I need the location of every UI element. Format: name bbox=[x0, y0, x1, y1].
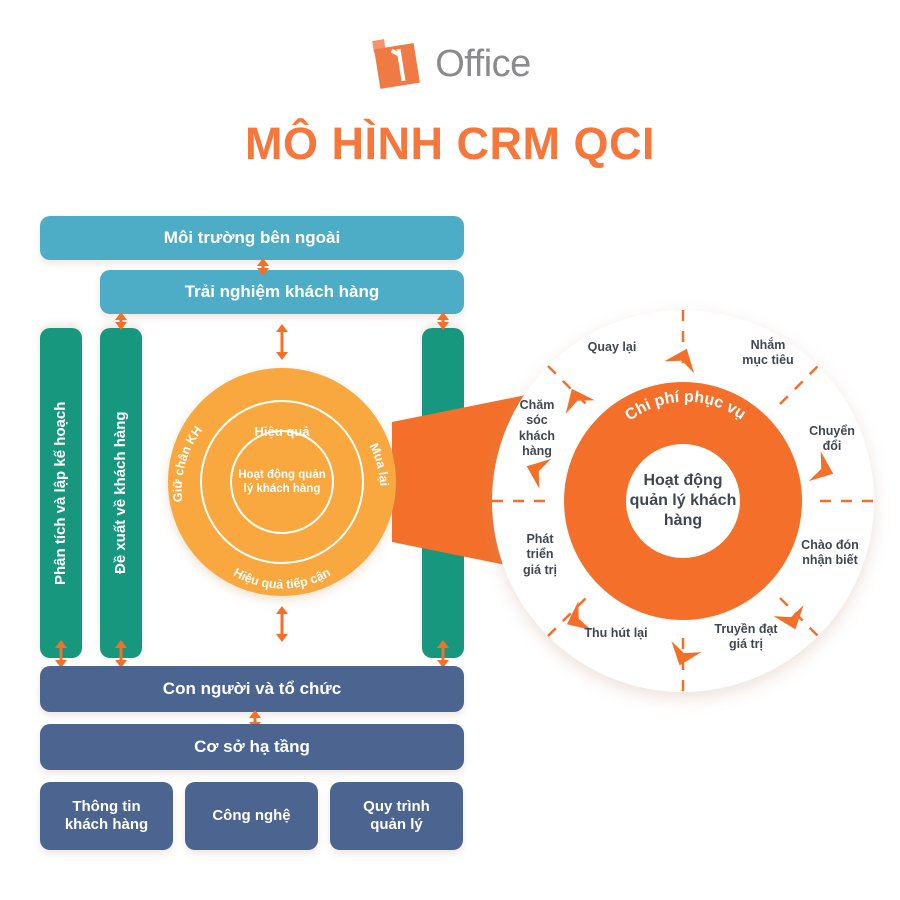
left-circle-ring-3: Hoạt động quản lý khách hàng bbox=[230, 430, 334, 534]
segment-label-welcome: Chào đón nhận biết bbox=[782, 538, 878, 569]
segment-label-value-growth: Phát triển giá trị bbox=[502, 532, 578, 578]
bar-infrastructure: Cơ sở hạ tầng bbox=[40, 724, 464, 770]
left-concentric-circle: Giữ chân KH Mua lại Hiệu quả tiếp cận Hi… bbox=[168, 368, 396, 596]
segment-label-win-back: Thu hút lại bbox=[568, 626, 664, 641]
segment-label-value-delivery: Truyền đạt giá trị bbox=[698, 622, 794, 653]
infographic-canvas: Office MÔ HÌNH CRM QCI Môi trường bên ng… bbox=[0, 0, 900, 900]
arrow-experience-to-proposition bbox=[114, 312, 128, 330]
left-outer-label-reach: Hiệu quả tiếp cận bbox=[231, 565, 333, 591]
segment-label-targeting: Nhắm mục tiêu bbox=[720, 338, 816, 369]
bar-customer-proposition-label: Đề xuất về khách hàng bbox=[112, 412, 130, 575]
box-customer-information-label: Thông tin khách hàng bbox=[65, 798, 148, 834]
right-circle-core-label: Hoạt động quản lý khách hàng bbox=[626, 471, 740, 531]
bar-external-environment-label: Môi trường bên ngoài bbox=[164, 228, 340, 248]
box-technology-label: Công nghệ bbox=[212, 807, 290, 825]
segment-label-return: Quay lại bbox=[564, 340, 660, 355]
bar-infrastructure-label: Cơ sở hạ tầng bbox=[194, 737, 310, 757]
arrow-measurement-to-people bbox=[436, 640, 450, 668]
bar-analysis-planning: Phân tích và lập kế hoạch bbox=[40, 328, 82, 658]
box-technology: Công nghệ bbox=[185, 782, 318, 850]
bar-customer-proposition: Đề xuất về khách hàng bbox=[100, 328, 142, 658]
box-management-process: Quy trình quản lý bbox=[330, 782, 463, 850]
arrow-proposition-to-people bbox=[114, 640, 128, 668]
right-detail-circle: Chi phí phục vụ Hoạt động quản lý khách … bbox=[492, 310, 874, 692]
arrow-experience-to-measurement bbox=[436, 312, 450, 330]
page-title: MÔ HÌNH CRM QCI bbox=[0, 118, 900, 170]
brand-logo: Office bbox=[0, 36, 900, 92]
1office-logo-icon bbox=[369, 36, 425, 92]
bar-people-organisation-label: Con người và tổ chức bbox=[163, 679, 341, 699]
arrow-experience-to-core bbox=[275, 324, 289, 360]
bar-customer-experience: Trải nghiệm khách hàng bbox=[100, 270, 464, 314]
arrow-external-to-experience bbox=[256, 258, 270, 276]
left-outer-label-repurchase: Mua lại bbox=[367, 441, 391, 487]
segment-label-conversion: Chuyển đổi bbox=[792, 424, 872, 455]
bar-people-organisation: Con người và tổ chức bbox=[40, 666, 464, 712]
arrow-core-to-people bbox=[275, 606, 289, 642]
box-customer-information: Thông tin khách hàng bbox=[40, 782, 173, 850]
left-circle-core-label: Hoạt động quản lý khách hàng bbox=[232, 468, 332, 497]
box-management-process-label: Quy trình quản lý bbox=[363, 798, 430, 834]
arrow-analysis-to-people bbox=[54, 640, 68, 668]
bar-customer-experience-label: Trải nghiệm khách hàng bbox=[185, 282, 380, 302]
right-circle-hole: Hoạt động quản lý khách hàng bbox=[626, 444, 740, 558]
brand-logo-text: Office bbox=[435, 43, 531, 86]
segment-label-customer-care: Chăm sóc khách hàng bbox=[500, 398, 574, 459]
bar-external-environment: Môi trường bên ngoài bbox=[40, 216, 464, 260]
bar-analysis-planning-label: Phân tích và lập kế hoạch bbox=[52, 401, 70, 584]
